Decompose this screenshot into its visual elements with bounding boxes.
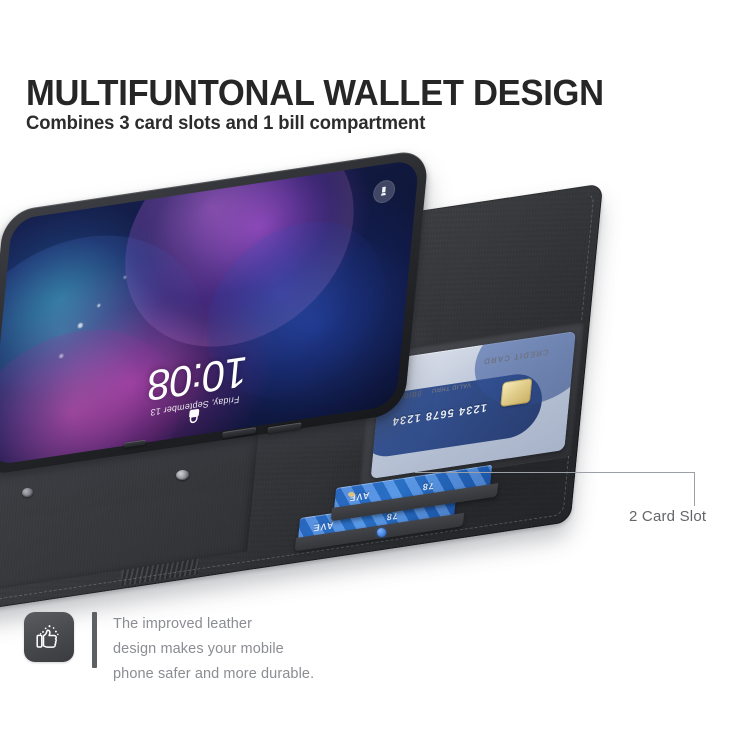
slot-card-label: AVE [312,520,334,533]
product-infographic: MULTIFUNTONAL WALLET DESIGN Combines 3 c… [0,0,750,750]
page-subtitle: Combines 3 card slots and 1 bill compart… [26,113,425,135]
feature-line: phone safer and more durable. [113,662,314,687]
lock-screen-content: Friday, September 13 10:08 [0,159,419,466]
lockscreen-time: 10:08 [0,325,403,431]
feature-line: design makes your mobile [113,637,314,662]
emv-chip-icon [500,378,532,407]
thumbs-up-icon [24,612,74,662]
feature-line: The improved leather [113,612,314,637]
callout-leader-vertical [694,472,695,506]
leather-highlight [348,492,355,497]
callout-leader-horizontal [415,472,695,473]
callout-label-card-slot: 2 Card Slot [629,508,706,525]
feature-block: The improved leather design makes your m… [24,612,314,687]
phone-screen: Friday, September 13 10:08 [0,159,419,466]
flashlight-icon[interactable] [372,179,396,205]
product-photo: 1234 5678 1234 00/00 VALID THRU CREDIT C… [0,170,640,600]
card-edge-highlight [377,528,386,537]
feature-description: The improved leather design makes your m… [113,612,314,687]
feature-divider [92,612,97,668]
slot-card-code: 78 [421,480,434,492]
page-title: MULTIFUNTONAL WALLET DESIGN [26,72,604,114]
